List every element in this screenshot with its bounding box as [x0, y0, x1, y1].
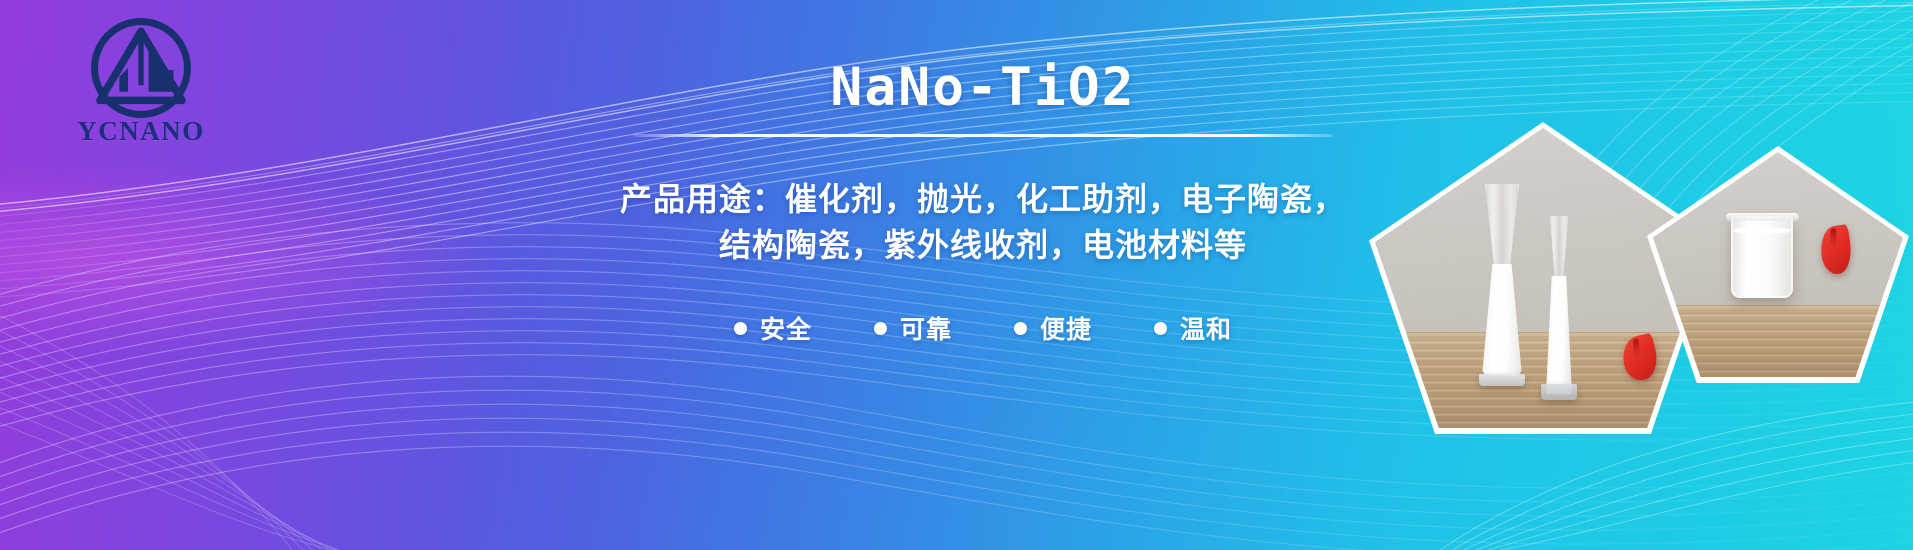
brand-logo[interactable]: YCNANO — [46, 14, 236, 154]
feature-item-reliable: 可靠 — [874, 310, 952, 346]
dot-icon — [1014, 322, 1027, 335]
short-white-vase — [1535, 216, 1583, 396]
brand-logo-text: YCNANO — [77, 116, 205, 147]
product-usage-line-2: 结构陶瓷，紫外线收剂，电池材料等 — [478, 222, 1488, 268]
glass-beaker — [1731, 216, 1793, 298]
feature-list: 安全 可靠 便捷 温和 — [478, 310, 1488, 346]
tall-white-vase — [1473, 184, 1531, 396]
feature-item-convenient: 便捷 — [1014, 310, 1092, 346]
product-photo-group — [1353, 0, 1913, 550]
product-banner: YCNANO NaNo-TiO2 产品用途：催化剂，抛光，化工助剂，电子陶瓷， … — [0, 0, 1913, 550]
dot-icon — [874, 322, 887, 335]
page-title: NaNo-TiO2 — [478, 60, 1488, 116]
dot-icon — [734, 322, 747, 335]
title-divider — [633, 134, 1333, 137]
ycnano-circle-triangle-logo-icon — [87, 14, 195, 122]
feature-label: 安全 — [760, 310, 812, 346]
dot-icon — [1154, 322, 1167, 335]
photo-wood-table — [1653, 305, 1903, 377]
feature-label: 可靠 — [900, 310, 952, 346]
product-usage-line-1: 产品用途：催化剂，抛光，化工助剂，电子陶瓷， — [478, 176, 1488, 222]
hero-copy: NaNo-TiO2 产品用途：催化剂，抛光，化工助剂，电子陶瓷， 结构陶瓷，紫外… — [478, 60, 1488, 346]
feature-item-mild: 温和 — [1154, 310, 1232, 346]
feature-label: 便捷 — [1040, 310, 1092, 346]
product-usage-text: 产品用途：催化剂，抛光，化工助剂，电子陶瓷， 结构陶瓷，紫外线收剂，电池材料等 — [478, 176, 1488, 269]
white-vases-photo — [1375, 128, 1711, 428]
feature-item-safe: 安全 — [734, 310, 812, 346]
beaker-white-liquid-photo — [1653, 152, 1903, 377]
feature-label: 温和 — [1180, 310, 1232, 346]
